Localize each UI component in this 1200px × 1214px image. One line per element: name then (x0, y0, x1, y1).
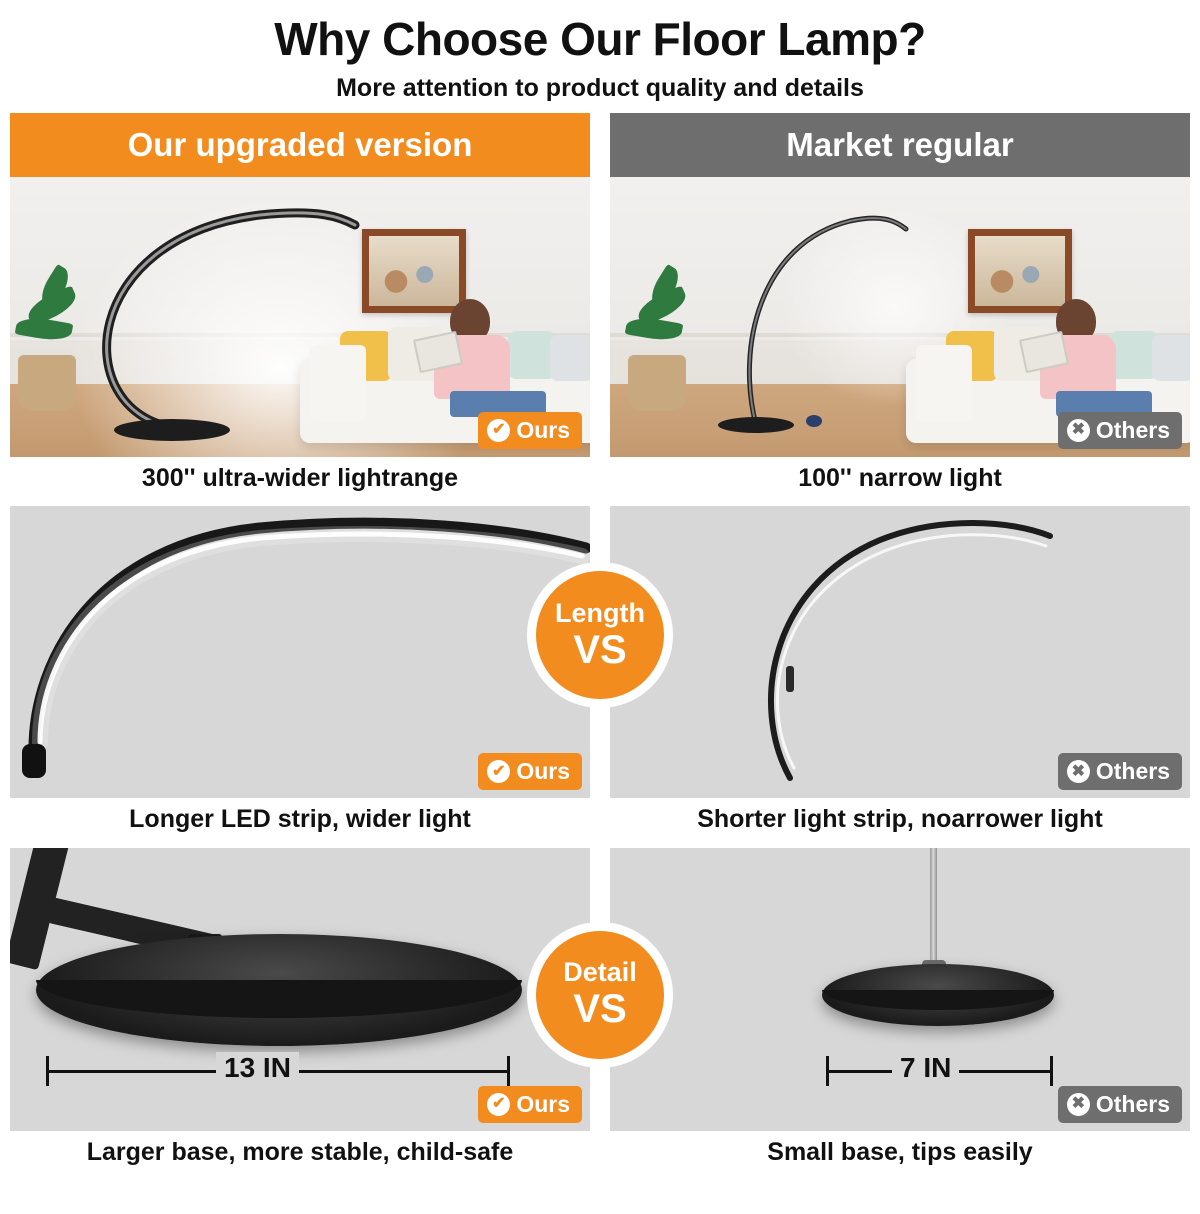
vs-label: Detail (563, 959, 637, 986)
picture-art (369, 236, 459, 306)
cushion-mint (1110, 331, 1158, 379)
badge-ours: ✔ Ours (478, 412, 582, 449)
row-detail: Detail VS (10, 848, 1190, 1173)
cushion-gray (550, 335, 590, 381)
vs-badge-detail: Detail VS (527, 922, 673, 1068)
dimension-cap-right (507, 1056, 510, 1086)
plant-pot (628, 355, 686, 411)
caption-others-row3: Small base, tips easily (610, 1131, 1190, 1173)
dimension-cap-right (1050, 1056, 1053, 1086)
lamp-base-others (718, 417, 794, 433)
badge-ours: ✔ Ours (478, 1086, 582, 1123)
photo-ours-ledstrip: ✔ Ours (10, 506, 590, 798)
badge-others: ✖ Others (1058, 412, 1182, 449)
caption-ours-row2: Longer LED strip, wider light (10, 798, 590, 840)
vs-badge-length: Length VS (527, 562, 673, 708)
cross-icon: ✖ (1067, 760, 1090, 783)
cushion-mint (508, 331, 556, 379)
dimension-cap-left (46, 1056, 49, 1086)
ours-column-row2: ✔ Ours Longer LED strip, wider light (10, 506, 590, 840)
wall-picture-frame (968, 229, 1072, 313)
lamp-base-ours (114, 419, 230, 441)
photo-ours-base: 13 IN ✔ Ours (10, 848, 590, 1131)
caption-ours-row1: 300'' ultra-wider lightrange (10, 457, 590, 499)
dimension-cap-left (826, 1056, 829, 1086)
caption-others-row1: 100'' narrow light (610, 457, 1190, 499)
caption-others-row2: Shorter light strip, noarrower light (610, 798, 1190, 840)
picture-art (975, 236, 1065, 306)
badge-others-label: Others (1096, 417, 1170, 444)
badge-ours-label: Ours (516, 758, 570, 785)
ours-column-row1: Our upgraded version (10, 113, 590, 499)
check-icon: ✔ (487, 419, 510, 442)
dimension-label-ours: 13 IN (216, 1052, 299, 1084)
strip-joint (786, 666, 794, 692)
cushion-gray (1152, 335, 1190, 381)
power-cord-plug (806, 415, 822, 427)
banner-market: Market regular (610, 113, 1190, 177)
ours-column-row3: 13 IN ✔ Ours Larger base, more stable, c… (10, 848, 590, 1173)
photo-others-base: 7 IN ✖ Others (610, 848, 1190, 1131)
row-length: Length VS ✔ Ours (10, 506, 1190, 840)
badge-ours: ✔ Ours (478, 753, 582, 790)
caption-ours-row3: Larger base, more stable, child-safe (10, 1131, 590, 1173)
cross-icon: ✖ (1067, 1093, 1090, 1116)
photo-ours-livingroom: ✔ Ours (10, 177, 590, 457)
badge-others: ✖ Others (1058, 1086, 1182, 1123)
banner-ours: Our upgraded version (10, 113, 590, 177)
vs-text: VS (573, 629, 626, 671)
page-title: Why Choose Our Floor Lamp? (0, 14, 1200, 66)
market-column-row3: 7 IN ✖ Others Small base, tips easily (610, 848, 1190, 1173)
market-column-row1: Market regular (610, 113, 1190, 499)
throw-blanket (916, 345, 972, 421)
photo-others-livingroom: ✖ Others (610, 177, 1190, 457)
comparison-infographic: Why Choose Our Floor Lamp? More attentio… (0, 14, 1200, 1214)
page-subtitle: More attention to product quality and de… (0, 74, 1200, 103)
market-column-row2: ✖ Others Shorter light strip, noarrower … (610, 506, 1190, 840)
badge-others-label: Others (1096, 758, 1170, 785)
badge-ours-label: Ours (516, 417, 570, 444)
badge-others-label: Others (1096, 1091, 1170, 1118)
badge-others: ✖ Others (1058, 753, 1182, 790)
cross-icon: ✖ (1067, 419, 1090, 442)
strip-end-cap (22, 744, 46, 778)
plant-pot (18, 355, 76, 411)
dimension-label-others: 7 IN (892, 1052, 959, 1084)
vs-text: VS (573, 988, 626, 1030)
row-lightrange: Our upgraded version (10, 113, 1190, 499)
lamp-pole-others (930, 848, 937, 968)
photo-others-ledstrip: ✖ Others (610, 506, 1190, 798)
wall-picture-frame (362, 229, 466, 313)
check-icon: ✔ (487, 1093, 510, 1116)
throw-blanket (310, 345, 366, 421)
badge-ours-label: Ours (516, 1091, 570, 1118)
vs-label: Length (555, 600, 645, 627)
comparison-grid: Our upgraded version (10, 113, 1190, 1173)
check-icon: ✔ (487, 760, 510, 783)
